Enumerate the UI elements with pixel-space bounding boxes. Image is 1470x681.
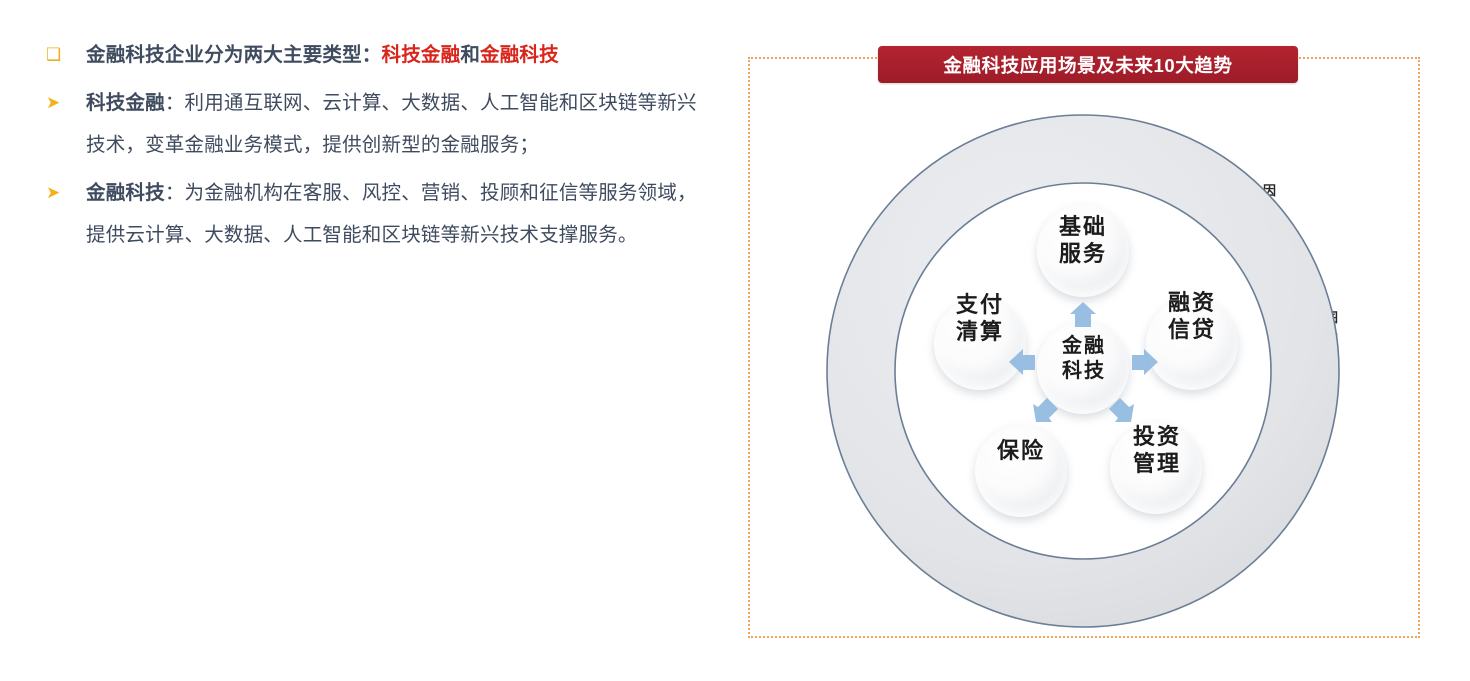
node-label-investment-management: 投资 管理: [1107, 424, 1207, 478]
bullet-seg-term: 金融科技: [86, 182, 165, 204]
arrow-down-left-icon: [1031, 395, 1061, 425]
list-item: ➤ 金融科技：为金融机构在客服、风控、营销、投顾和征信等服务领域，提供云计算、大…: [40, 172, 700, 256]
arrow-left-icon: [1007, 347, 1037, 377]
bullet-seg-highlight: 科技金融: [382, 44, 461, 66]
bullet-text: 金融科技：为金融机构在客服、风控、营销、投顾和征信等服务领域，提供云计算、大数据…: [86, 172, 700, 256]
arrow-bullet-icon: ➤: [40, 82, 86, 124]
bullet-text: 金融科技企业分为两大主要类型：科技金融和金融科技: [86, 34, 700, 76]
bullet-seg-term: 科技金融: [86, 92, 165, 114]
bullet-list: ❑ 金融科技企业分为两大主要类型：科技金融和金融科技 ➤ 科技金融：利用通互联网…: [40, 34, 700, 262]
node-label-basic-service: 基础 服务: [1033, 214, 1133, 268]
list-item: ❑ 金融科技企业分为两大主要类型：科技金融和金融科技: [40, 34, 700, 76]
diagram-title-banner: 金融科技应用场景及未来10大趋势: [878, 46, 1298, 83]
bullet-seg: ：为金融机构在客服、风控、营销、投顾和征信等服务领域，提供云计算、大数据、人工智…: [86, 182, 697, 246]
bullet-seg: 金融科技企业分为两大主要类型：: [86, 44, 382, 66]
bullet-seg: ：利用通互联网、云计算、大数据、人工智能和区块链等新兴技术，变革金融业务模式，提…: [86, 92, 697, 156]
arrow-right-icon: [1130, 347, 1160, 377]
arrow-up-icon: [1068, 300, 1098, 330]
arrow-down-right-icon: [1106, 395, 1136, 425]
bullet-seg-highlight: 金融科技: [480, 44, 559, 66]
node-label-fintech-center: 金融 科技: [1034, 333, 1134, 383]
bullet-text: 科技金融：利用通互联网、云计算、大数据、人工智能和区块链等新兴技术，变革金融业务…: [86, 82, 700, 166]
list-item: ➤ 科技金融：利用通互联网、云计算、大数据、人工智能和区块链等新兴技术，变革金融…: [40, 82, 700, 166]
arrow-bullet-icon: ➤: [40, 172, 86, 214]
square-bullet-icon: ❑: [40, 34, 86, 76]
node-label-payment-settlement: 支付 清算: [930, 292, 1030, 346]
slide-page: ❑ 金融科技企业分为两大主要类型：科技金融和金融科技 ➤ 科技金融：利用通互联网…: [0, 0, 1470, 681]
bullet-seg: 和: [460, 44, 480, 66]
node-label-financing-credit: 融资 信贷: [1142, 290, 1242, 344]
node-label-insurance: 保险: [971, 438, 1071, 465]
